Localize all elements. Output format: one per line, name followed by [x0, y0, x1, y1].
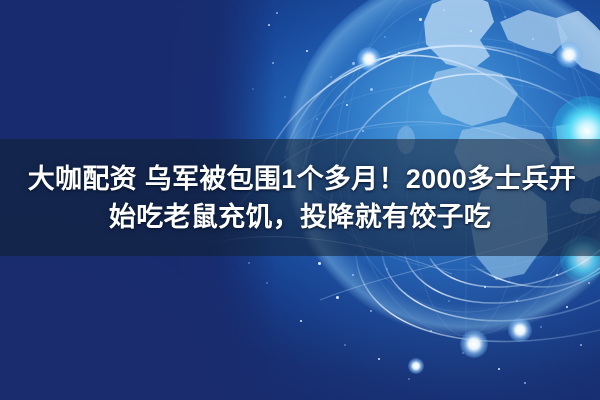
headline-line-2: 始吃老鼠充饥，投降就有饺子吃 — [109, 199, 491, 235]
arc-group-lower — [356, 250, 600, 341]
headline-block: 大咖配资 乌军被包围1个多月！2000多士兵开 始吃老鼠充饥，投降就有饺子吃 — [0, 139, 600, 256]
banner-image: 大咖配资 乌军被包围1个多月！2000多士兵开 始吃老鼠充饥，投降就有饺子吃 — [0, 0, 600, 400]
headline-line-1: 大咖配资 乌军被包围1个多月！2000多士兵开 — [24, 161, 576, 197]
